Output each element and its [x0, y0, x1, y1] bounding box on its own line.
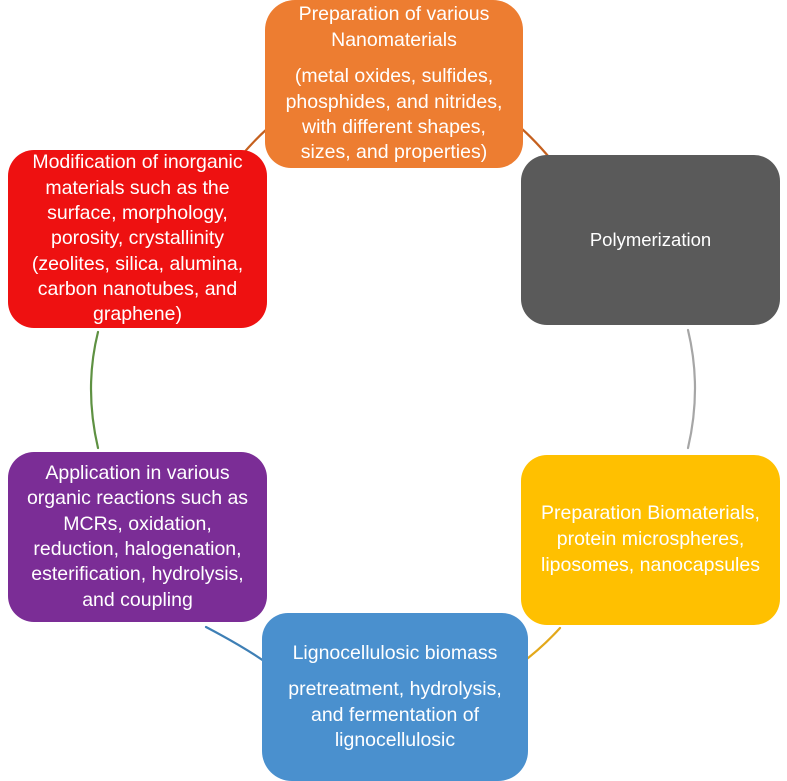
node-polymerization[interactable]: Polymerization	[521, 155, 780, 325]
node-nanomaterials-line2: (metal oxides, sulfides, phosphides, and…	[277, 64, 511, 165]
node-application[interactable]: Application in various organic reactions…	[8, 452, 267, 622]
node-nanomaterials-line1: Preparation of various Nanomaterials	[277, 2, 511, 53]
node-application-line1: Application in various organic reactions…	[20, 461, 255, 613]
connector-application-to-modification	[91, 332, 98, 448]
node-modification-line1: Modification of inorganic materials such…	[20, 150, 255, 327]
node-lignocellulosic-line2: pretreatment, hydrolysis, and fermentati…	[274, 677, 516, 753]
node-biomaterials[interactable]: Preparation Biomaterials, protein micros…	[521, 455, 780, 625]
node-lignocellulosic[interactable]: Lignocellulosic biomass pretreatment, hy…	[262, 613, 528, 781]
node-modification[interactable]: Modification of inorganic materials such…	[8, 150, 267, 328]
cycle-diagram: Preparation of various Nanomaterials (me…	[0, 0, 787, 781]
node-polymerization-line1: Polymerization	[533, 228, 768, 252]
node-nanomaterials[interactable]: Preparation of various Nanomaterials (me…	[265, 0, 523, 168]
node-lignocellulosic-line1: Lignocellulosic biomass	[274, 641, 516, 666]
connector-polymerization-to-biomaterials	[688, 330, 695, 448]
connector-lignocellulosic-to-application	[206, 627, 268, 664]
node-biomaterials-line1: Preparation Biomaterials, protein micros…	[533, 501, 768, 578]
